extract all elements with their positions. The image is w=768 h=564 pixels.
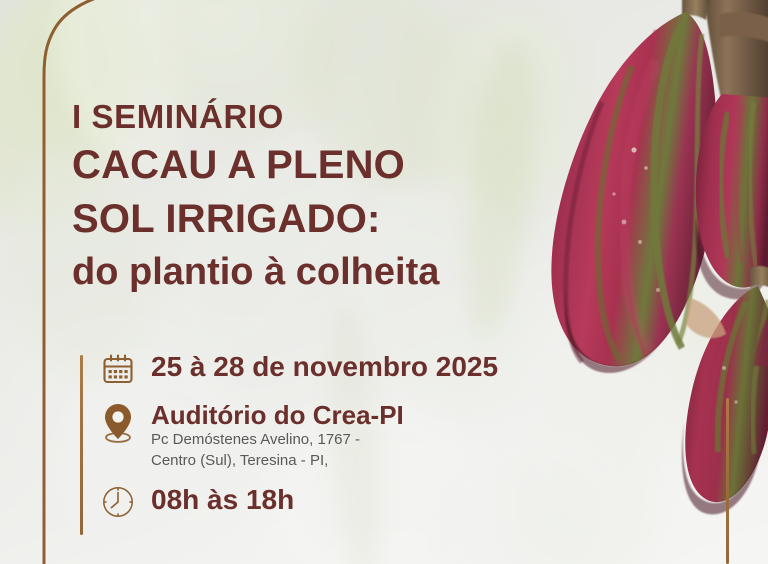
event-details: 25 à 28 de novembro 2025 Auditório do Cr… — [95, 352, 635, 529]
location-pin-icon — [95, 402, 141, 444]
event-date: 25 à 28 de novembro 2025 — [151, 352, 498, 381]
calendar-icon — [95, 352, 141, 386]
event-time: 08h às 18h — [151, 485, 294, 514]
title-line-4: do plantio à colheita — [72, 253, 592, 291]
poster: I SEMINÁRIO CACAU A PLENO SOL IRRIGADO: … — [0, 0, 768, 564]
venue-address-line-1: Pc Demóstenes Avelino, 1767 - — [151, 431, 404, 450]
title-line-2: CACAU A PLENO — [72, 145, 592, 185]
clock-icon — [95, 485, 141, 519]
title-line-3: SOL IRRIGADO: — [72, 199, 592, 239]
detail-text-location: Auditório do Crea-PI Pc Demóstenes Aveli… — [141, 402, 404, 471]
poster-content: I SEMINÁRIO CACAU A PLENO SOL IRRIGADO: … — [0, 0, 768, 564]
detail-row-time: 08h às 18h — [95, 485, 635, 519]
detail-row-location: Auditório do Crea-PI Pc Demóstenes Aveli… — [95, 402, 635, 471]
venue-name: Auditório do Crea-PI — [151, 402, 404, 429]
venue-address-line-2: Centro (Sul), Teresina - PI, — [151, 452, 404, 471]
title-line-1: I SEMINÁRIO — [72, 100, 592, 133]
detail-row-date: 25 à 28 de novembro 2025 — [95, 352, 635, 386]
detail-text-time: 08h às 18h — [141, 485, 294, 514]
title-block: I SEMINÁRIO CACAU A PLENO SOL IRRIGADO: … — [72, 100, 592, 303]
detail-text-date: 25 à 28 de novembro 2025 — [141, 352, 498, 381]
